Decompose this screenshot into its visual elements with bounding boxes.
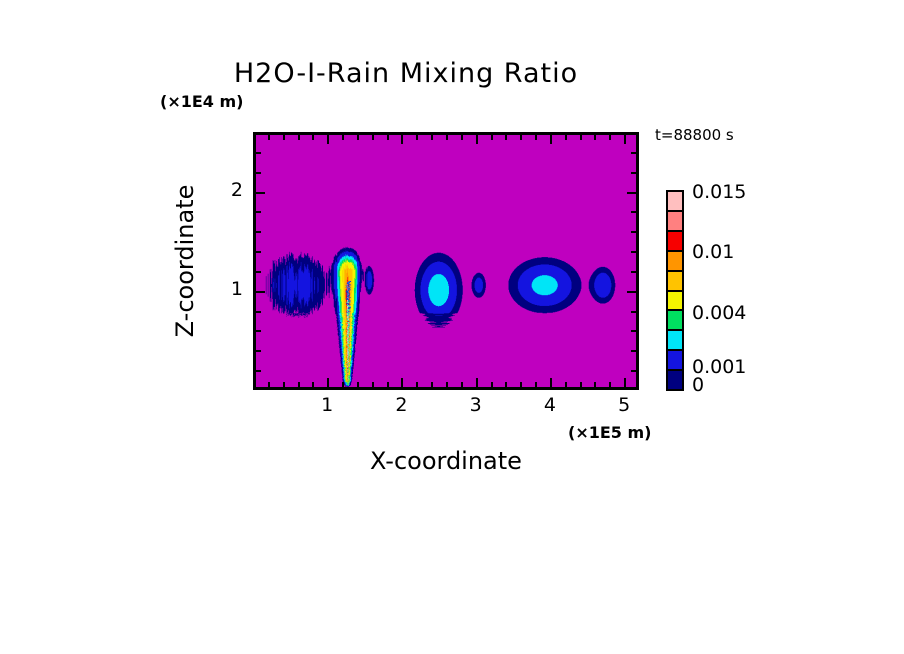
y-minor-tick-right — [631, 370, 636, 372]
x-minor-tick — [312, 382, 314, 387]
y-minor-tick-right — [631, 211, 636, 213]
y-major-tick-right — [627, 291, 636, 293]
plot-area — [253, 132, 639, 390]
x-minor-tick-top — [580, 135, 582, 140]
x-minor-tick — [283, 382, 285, 387]
x-minor-tick-top — [505, 135, 507, 140]
x-minor-tick-top — [342, 135, 344, 140]
x-minor-tick — [580, 382, 582, 387]
x-minor-tick-top — [461, 135, 463, 140]
x-minor-tick — [491, 382, 493, 387]
x-minor-tick-top — [372, 135, 374, 140]
y-axis-title: Z-coordinate — [171, 185, 199, 338]
x-major-tick — [327, 378, 329, 387]
page-title: H2O-I-Rain Mixing Ratio — [0, 58, 858, 89]
colorbar-segment — [668, 232, 682, 252]
x-major-tick-top — [624, 135, 626, 144]
y-minor-tick — [256, 172, 261, 174]
x-axis-units-label: (×1E5 m) — [568, 423, 651, 442]
y-minor-tick-right — [631, 251, 636, 253]
x-tick-label: 5 — [604, 394, 644, 416]
x-minor-tick-top — [283, 135, 285, 140]
y-minor-tick — [256, 271, 261, 273]
y-minor-tick — [256, 330, 261, 332]
x-minor-tick-top — [609, 135, 611, 140]
x-minor-tick-top — [594, 135, 596, 140]
x-minor-tick-top — [535, 135, 537, 140]
x-minor-tick-top — [491, 135, 493, 140]
x-minor-tick-top — [431, 135, 433, 140]
y-axis-units-label: (×1E4 m) — [160, 92, 243, 111]
x-minor-tick-top — [446, 135, 448, 140]
y-minor-tick-right — [631, 350, 636, 352]
colorbar-segment — [668, 292, 682, 312]
x-major-tick — [550, 378, 552, 387]
x-minor-tick — [431, 382, 433, 387]
x-minor-tick — [461, 382, 463, 387]
x-major-tick — [624, 378, 626, 387]
y-minor-tick — [256, 211, 261, 213]
y-minor-tick-right — [631, 152, 636, 154]
x-minor-tick-top — [565, 135, 567, 140]
x-minor-tick-top — [357, 135, 359, 140]
y-minor-tick — [256, 311, 261, 313]
x-minor-tick-top — [387, 135, 389, 140]
y-major-tick — [256, 291, 265, 293]
y-major-tick-right — [627, 192, 636, 194]
x-minor-tick — [594, 382, 596, 387]
x-tick-label: 4 — [530, 394, 570, 416]
y-minor-tick-right — [631, 330, 636, 332]
y-minor-tick — [256, 350, 261, 352]
x-minor-tick — [565, 382, 567, 387]
x-minor-tick — [416, 382, 418, 387]
y-minor-tick — [256, 231, 261, 233]
x-major-tick-top — [550, 135, 552, 144]
x-major-tick — [401, 378, 403, 387]
x-tick-label: 3 — [456, 394, 496, 416]
x-minor-tick — [387, 382, 389, 387]
colorbar-segment — [668, 192, 682, 212]
x-minor-tick — [446, 382, 448, 387]
y-minor-tick-right — [631, 231, 636, 233]
x-major-tick-top — [476, 135, 478, 144]
y-minor-tick-right — [631, 311, 636, 313]
x-minor-tick-top — [298, 135, 300, 140]
x-minor-tick — [268, 382, 270, 387]
y-minor-tick — [256, 152, 261, 154]
colorbar-segment — [668, 331, 682, 351]
x-minor-tick — [535, 382, 537, 387]
x-major-tick-top — [401, 135, 403, 144]
colorbar-segment — [668, 351, 682, 371]
colorbar-tick-label: 0.004 — [692, 302, 746, 324]
colorbar-segment — [668, 272, 682, 292]
y-minor-tick-right — [631, 271, 636, 273]
x-minor-tick — [520, 382, 522, 387]
y-minor-tick-right — [631, 172, 636, 174]
x-minor-tick-top — [416, 135, 418, 140]
rain-mixing-ratio-field — [256, 135, 636, 387]
x-tick-label: 1 — [307, 394, 347, 416]
figure-canvas: H2O-I-Rain Mixing Ratio (×1E4 m) 1234512… — [0, 0, 904, 654]
x-minor-tick-top — [520, 135, 522, 140]
colorbar-tick-label: 0.015 — [692, 181, 746, 203]
colorbar-segment — [668, 371, 682, 389]
x-axis-title: X-coordinate — [253, 447, 639, 475]
y-major-tick — [256, 192, 265, 194]
y-minor-tick — [256, 370, 261, 372]
x-minor-tick — [609, 382, 611, 387]
x-minor-tick — [342, 382, 344, 387]
x-minor-tick — [505, 382, 507, 387]
y-tick-label: 2 — [203, 179, 243, 201]
colorbar-tick-label: 0.01 — [692, 241, 734, 263]
x-minor-tick-top — [268, 135, 270, 140]
colorbar-segment — [668, 252, 682, 272]
x-major-tick-top — [327, 135, 329, 144]
colorbar-segment — [668, 311, 682, 331]
x-tick-label: 2 — [381, 394, 421, 416]
colorbar-tick-label: 0 — [692, 374, 704, 396]
colorbar — [666, 190, 684, 391]
time-annotation: t=88800 s — [655, 126, 734, 144]
x-minor-tick-top — [312, 135, 314, 140]
y-tick-label: 1 — [203, 278, 243, 300]
x-minor-tick — [357, 382, 359, 387]
x-major-tick — [476, 378, 478, 387]
y-minor-tick — [256, 251, 261, 253]
x-minor-tick — [298, 382, 300, 387]
x-minor-tick — [372, 382, 374, 387]
colorbar-segment — [668, 212, 682, 232]
